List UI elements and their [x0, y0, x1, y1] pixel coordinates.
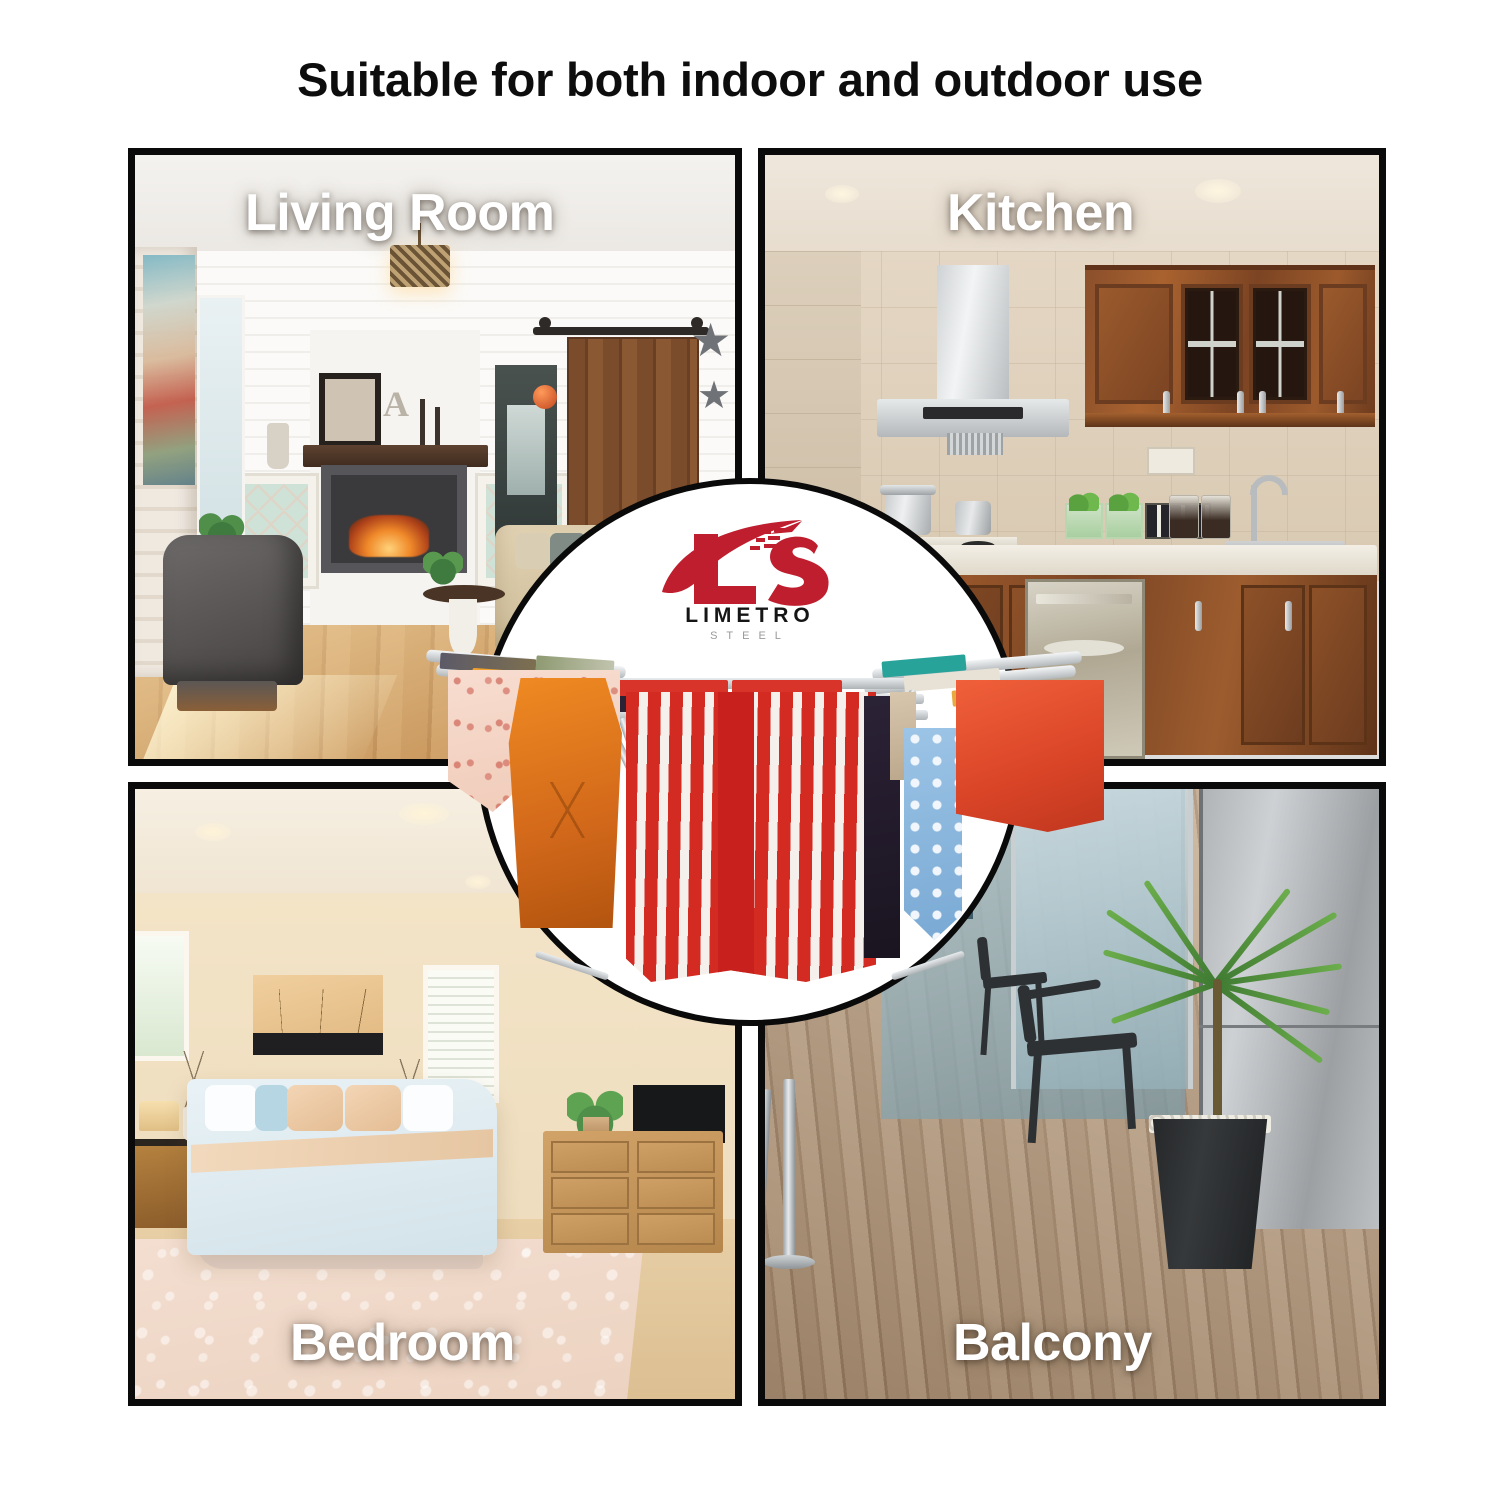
range-hood: [877, 399, 1069, 437]
brand-logo: LIMETRO STEEL: [635, 518, 865, 642]
drawer: [551, 1213, 629, 1245]
range-hood-chimney: [937, 265, 1009, 407]
dresser: [543, 1131, 723, 1253]
candlestick-icon: [435, 407, 440, 445]
wall-art: [143, 255, 195, 485]
star-decor-icon: ★: [697, 377, 731, 415]
quadrant-label-bedroom: Bedroom: [290, 1313, 515, 1373]
vase: [267, 423, 289, 469]
glass-cabinet-door: [1249, 284, 1311, 404]
recessed-light: [825, 185, 859, 203]
cabinet-ledge: [1085, 413, 1375, 427]
rack-foot: [891, 950, 965, 980]
recessed-light: [1195, 179, 1241, 203]
pillow: [255, 1085, 289, 1131]
letter-a-decor: A: [383, 383, 409, 425]
barn-door-rail: [533, 327, 709, 335]
herb-plant: [1065, 503, 1103, 539]
quadrant-label-balcony: Balcony: [953, 1313, 1152, 1373]
glass-cabinet-door: [1181, 284, 1243, 404]
sink-faucet: [1251, 485, 1257, 543]
potted-plant: [423, 547, 463, 585]
cabinet-handle: [1285, 601, 1292, 631]
infographic-canvas: Suitable for both indoor and outdoor use…: [0, 0, 1500, 1500]
recessed-light: [195, 823, 231, 841]
armchair: [163, 535, 303, 685]
quadrant-label-living-room: Living Room: [245, 183, 554, 243]
upper-cabinets: [1085, 265, 1375, 422]
drawer: [551, 1141, 629, 1173]
clothes-drying-rack[interactable]: [412, 632, 1092, 1032]
ls-monogram-icon: [652, 518, 848, 610]
drawer: [551, 1177, 629, 1209]
mantel-shelf: [303, 445, 488, 467]
hood-filter: [947, 433, 1003, 455]
window: [135, 931, 189, 1061]
star-decor-icon: ★: [690, 317, 731, 363]
cabinet-door: [1309, 585, 1367, 745]
rack-foot: [535, 950, 609, 980]
cabinet-door: [1241, 585, 1305, 745]
table-lamp: [139, 1101, 179, 1131]
palm-plant: [1095, 819, 1345, 1129]
cabinet-handle: [1195, 601, 1202, 631]
candlestick-icon: [420, 399, 425, 445]
wall-socket: [1147, 447, 1195, 475]
quadrant-label-kitchen: Kitchen: [947, 183, 1134, 243]
fire-flames: [349, 515, 429, 557]
rail-bolt: [539, 317, 551, 329]
laundry-orange-shirt: [504, 678, 622, 928]
laundry-striped-towel: [626, 692, 876, 982]
rack-leg: [783, 1079, 795, 1269]
pendant-light: [390, 245, 450, 287]
cabinet-door: [1095, 284, 1173, 404]
rack-foot: [765, 1255, 815, 1269]
drawer: [637, 1177, 715, 1209]
drawer: [637, 1141, 715, 1173]
pillow: [287, 1085, 343, 1131]
potted-plant: [567, 1079, 623, 1135]
wall-art: [253, 975, 383, 1055]
laundry-red-towel: [956, 680, 1104, 832]
pillow: [345, 1085, 401, 1131]
pillow: [205, 1085, 257, 1131]
herb-plant: [1105, 503, 1143, 539]
pillow: [403, 1085, 453, 1131]
drawer: [637, 1213, 715, 1245]
storage-jar: [1201, 495, 1231, 539]
brand-name: LIMETRO: [635, 604, 865, 628]
storage-jar: [1169, 495, 1199, 539]
laundry-polka-dot-cloth: [904, 728, 962, 940]
page-title: Suitable for both indoor and outdoor use: [0, 52, 1500, 107]
framed-picture: [319, 373, 381, 447]
cabinet-door: [1319, 284, 1367, 404]
orange-orb-light: [533, 385, 557, 409]
